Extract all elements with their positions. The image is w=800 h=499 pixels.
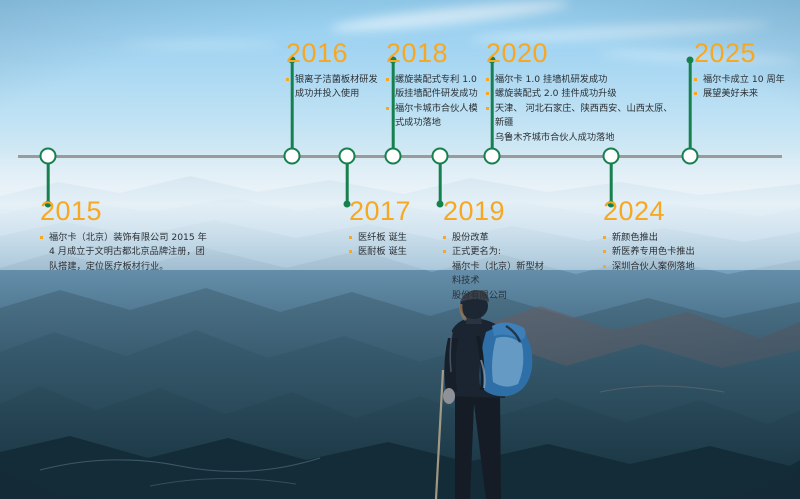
bullet-dot-icon bbox=[603, 265, 606, 268]
timeline-infographic: 2015福尔卡（北京）装饰有限公司 2015 年4 月成立于文明古都北京品牌注册… bbox=[0, 0, 800, 499]
event-bullet-text: 福尔卡城市合伙人模 bbox=[395, 103, 478, 114]
bullet-dot-icon bbox=[386, 78, 389, 81]
event-bullet-item: 医纤板 诞生 bbox=[349, 231, 439, 245]
event-year-label: 2019 bbox=[443, 196, 553, 226]
event-bullet-item: 4 月成立于文明古都北京品牌注册，团 bbox=[40, 245, 215, 259]
event-bullet-text: 版挂墙配件研发成功 bbox=[395, 88, 478, 99]
event-year-label: 2025 bbox=[694, 38, 794, 68]
event-bullet-item: 股份改革 bbox=[443, 231, 553, 245]
bullet-dot-icon bbox=[443, 236, 446, 239]
timeline-node-2020[interactable] bbox=[484, 148, 501, 165]
event-bullet-item: 股份有限公司 bbox=[443, 289, 553, 303]
event-bullet-item: 深圳合伙人案例落地 bbox=[603, 260, 733, 274]
event-bullet-text: 福尔卡 1.0 挂墙机研发成功 bbox=[495, 74, 607, 85]
event-bullet-text: 天津、 河北石家庄、陕西西安、山西太原、新疆 bbox=[495, 103, 672, 128]
event-bullet-text: 螺旋装配式专利 1.0 bbox=[395, 74, 477, 85]
bullet-dot-icon bbox=[40, 236, 43, 239]
event-bullet-list: 新颜色推出新医养专用色卡推出深圳合伙人案例落地 bbox=[603, 231, 733, 274]
event-bullet-item: 医耐板 诞生 bbox=[349, 245, 439, 259]
event-bullet-text: 福尔卡（北京）装饰有限公司 2015 年 bbox=[49, 232, 207, 243]
event-bullet-text: 队搭建，定位医疗板材行业。 bbox=[49, 261, 168, 272]
event-bullet-text: 新医养专用色卡推出 bbox=[612, 246, 695, 257]
event-bullet-item: 正式更名为: bbox=[443, 245, 553, 259]
bullet-dot-icon bbox=[603, 250, 606, 253]
timeline-stem-2025 bbox=[689, 60, 692, 148]
bullet-dot-icon bbox=[286, 78, 289, 81]
event-bullet-list: 医纤板 诞生医耐板 诞生 bbox=[349, 231, 439, 260]
event-bullet-item: 福尔卡（北京）装饰有限公司 2015 年 bbox=[40, 231, 215, 245]
timeline-node-2019[interactable] bbox=[432, 148, 449, 165]
event-bullet-text: 成功并投入使用 bbox=[295, 88, 359, 99]
event-bullet-list: 股份改革正式更名为:福尔卡（北京）新型材料技术股份有限公司 bbox=[443, 231, 553, 303]
event-bullet-item: 展望美好未来 bbox=[694, 87, 794, 101]
event-bullet-item: 天津、 河北石家庄、陕西西安、山西太原、新疆 bbox=[486, 102, 676, 131]
event-bullet-item: 福尔卡成立 10 周年 bbox=[694, 73, 794, 87]
event-bullet-text: 福尔卡成立 10 周年 bbox=[703, 74, 785, 85]
event-bullet-list: 螺旋装配式专利 1.0版挂墙配件研发成功福尔卡城市合伙人模式成功落地 bbox=[386, 73, 490, 131]
bullet-dot-icon bbox=[443, 250, 446, 253]
timeline-event-2017[interactable]: 2017医纤板 诞生医耐板 诞生 bbox=[349, 196, 439, 260]
event-bullet-text: 深圳合伙人案例落地 bbox=[612, 261, 695, 272]
timeline-event-2019[interactable]: 2019股份改革正式更名为:福尔卡（北京）新型材料技术股份有限公司 bbox=[443, 196, 553, 303]
event-bullet-item: 福尔卡（北京）新型材料技术 bbox=[443, 260, 553, 289]
event-bullet-item: 螺旋装配式 2.0 挂件成功升级 bbox=[486, 87, 676, 101]
event-bullet-text: 正式更名为: bbox=[452, 246, 501, 257]
event-bullet-text: 乌鲁木齐城市合伙人成功落地 bbox=[495, 132, 614, 143]
bullet-dot-icon bbox=[694, 92, 697, 95]
bullet-dot-icon bbox=[486, 107, 489, 110]
timeline-event-2016[interactable]: 2016银离子洁菌板材研发成功并投入使用 bbox=[286, 38, 382, 102]
bullet-dot-icon bbox=[386, 107, 389, 110]
event-bullet-text: 4 月成立于文明古都北京品牌注册，团 bbox=[49, 246, 205, 257]
event-year-label: 2016 bbox=[286, 38, 382, 68]
event-bullet-text: 福尔卡（北京）新型材料技术 bbox=[452, 261, 544, 286]
event-bullet-item: 乌鲁木齐城市合伙人成功落地 bbox=[486, 131, 676, 145]
event-bullet-item: 版挂墙配件研发成功 bbox=[386, 87, 490, 101]
event-bullet-list: 银离子洁菌板材研发成功并投入使用 bbox=[286, 73, 382, 102]
event-year-label: 2018 bbox=[386, 38, 490, 68]
timeline-stem-2017 bbox=[346, 164, 349, 204]
event-bullet-text: 医耐板 诞生 bbox=[358, 246, 407, 257]
timeline-stem-cap-2025 bbox=[687, 57, 694, 64]
event-year-label: 2024 bbox=[603, 196, 733, 226]
timeline-node-2024[interactable] bbox=[603, 148, 620, 165]
event-bullet-text: 新颜色推出 bbox=[612, 232, 658, 243]
event-bullet-item: 新医养专用色卡推出 bbox=[603, 245, 733, 259]
event-bullet-item: 成功并投入使用 bbox=[286, 87, 382, 101]
event-year-label: 2015 bbox=[40, 196, 215, 226]
event-bullet-text: 螺旋装配式 2.0 挂件成功升级 bbox=[495, 88, 617, 99]
bullet-dot-icon bbox=[694, 78, 697, 81]
bullet-dot-icon bbox=[486, 78, 489, 81]
event-bullet-text: 股份改革 bbox=[452, 232, 489, 243]
event-bullet-text: 银离子洁菌板材研发 bbox=[295, 74, 378, 85]
event-bullet-list: 福尔卡（北京）装饰有限公司 2015 年4 月成立于文明古都北京品牌注册，团队搭… bbox=[40, 231, 215, 274]
timeline-stem-2019 bbox=[439, 164, 442, 204]
event-bullet-item: 福尔卡 1.0 挂墙机研发成功 bbox=[486, 73, 676, 87]
bullet-dot-icon bbox=[349, 250, 352, 253]
event-year-label: 2017 bbox=[349, 196, 439, 226]
bullet-dot-icon bbox=[349, 236, 352, 239]
timeline-node-2017[interactable] bbox=[339, 148, 356, 165]
timeline-event-2018[interactable]: 2018螺旋装配式专利 1.0版挂墙配件研发成功福尔卡城市合伙人模式成功落地 bbox=[386, 38, 490, 131]
timeline-event-2025[interactable]: 2025福尔卡成立 10 周年展望美好未来 bbox=[694, 38, 794, 102]
timeline-event-2024[interactable]: 2024新颜色推出新医养专用色卡推出深圳合伙人案例落地 bbox=[603, 196, 733, 274]
event-bullet-item: 银离子洁菌板材研发 bbox=[286, 73, 382, 87]
event-bullet-text: 式成功落地 bbox=[395, 117, 441, 128]
timeline-node-2018[interactable] bbox=[385, 148, 402, 165]
bullet-dot-icon bbox=[603, 236, 606, 239]
event-bullet-text: 展望美好未来 bbox=[703, 88, 758, 99]
event-bullet-item: 式成功落地 bbox=[386, 116, 490, 130]
bullet-dot-icon bbox=[486, 92, 489, 95]
event-bullet-list: 福尔卡成立 10 周年展望美好未来 bbox=[694, 73, 794, 102]
event-bullet-item: 新颜色推出 bbox=[603, 231, 733, 245]
timeline-node-2016[interactable] bbox=[284, 148, 301, 165]
event-bullet-item: 螺旋装配式专利 1.0 bbox=[386, 73, 490, 87]
event-bullet-item: 队搭建，定位医疗板材行业。 bbox=[40, 260, 215, 274]
event-bullet-item: 福尔卡城市合伙人模 bbox=[386, 102, 490, 116]
event-year-label: 2020 bbox=[486, 38, 676, 68]
timeline-event-2015[interactable]: 2015福尔卡（北京）装饰有限公司 2015 年4 月成立于文明古都北京品牌注册… bbox=[40, 196, 215, 274]
event-bullet-text: 股份有限公司 bbox=[452, 290, 507, 301]
timeline-node-2025[interactable] bbox=[682, 148, 699, 165]
event-bullet-text: 医纤板 诞生 bbox=[358, 232, 407, 243]
event-bullet-list: 福尔卡 1.0 挂墙机研发成功螺旋装配式 2.0 挂件成功升级天津、 河北石家庄… bbox=[486, 73, 676, 145]
timeline-node-2015[interactable] bbox=[40, 148, 57, 165]
timeline-event-2020[interactable]: 2020福尔卡 1.0 挂墙机研发成功螺旋装配式 2.0 挂件成功升级天津、 河… bbox=[486, 38, 676, 145]
